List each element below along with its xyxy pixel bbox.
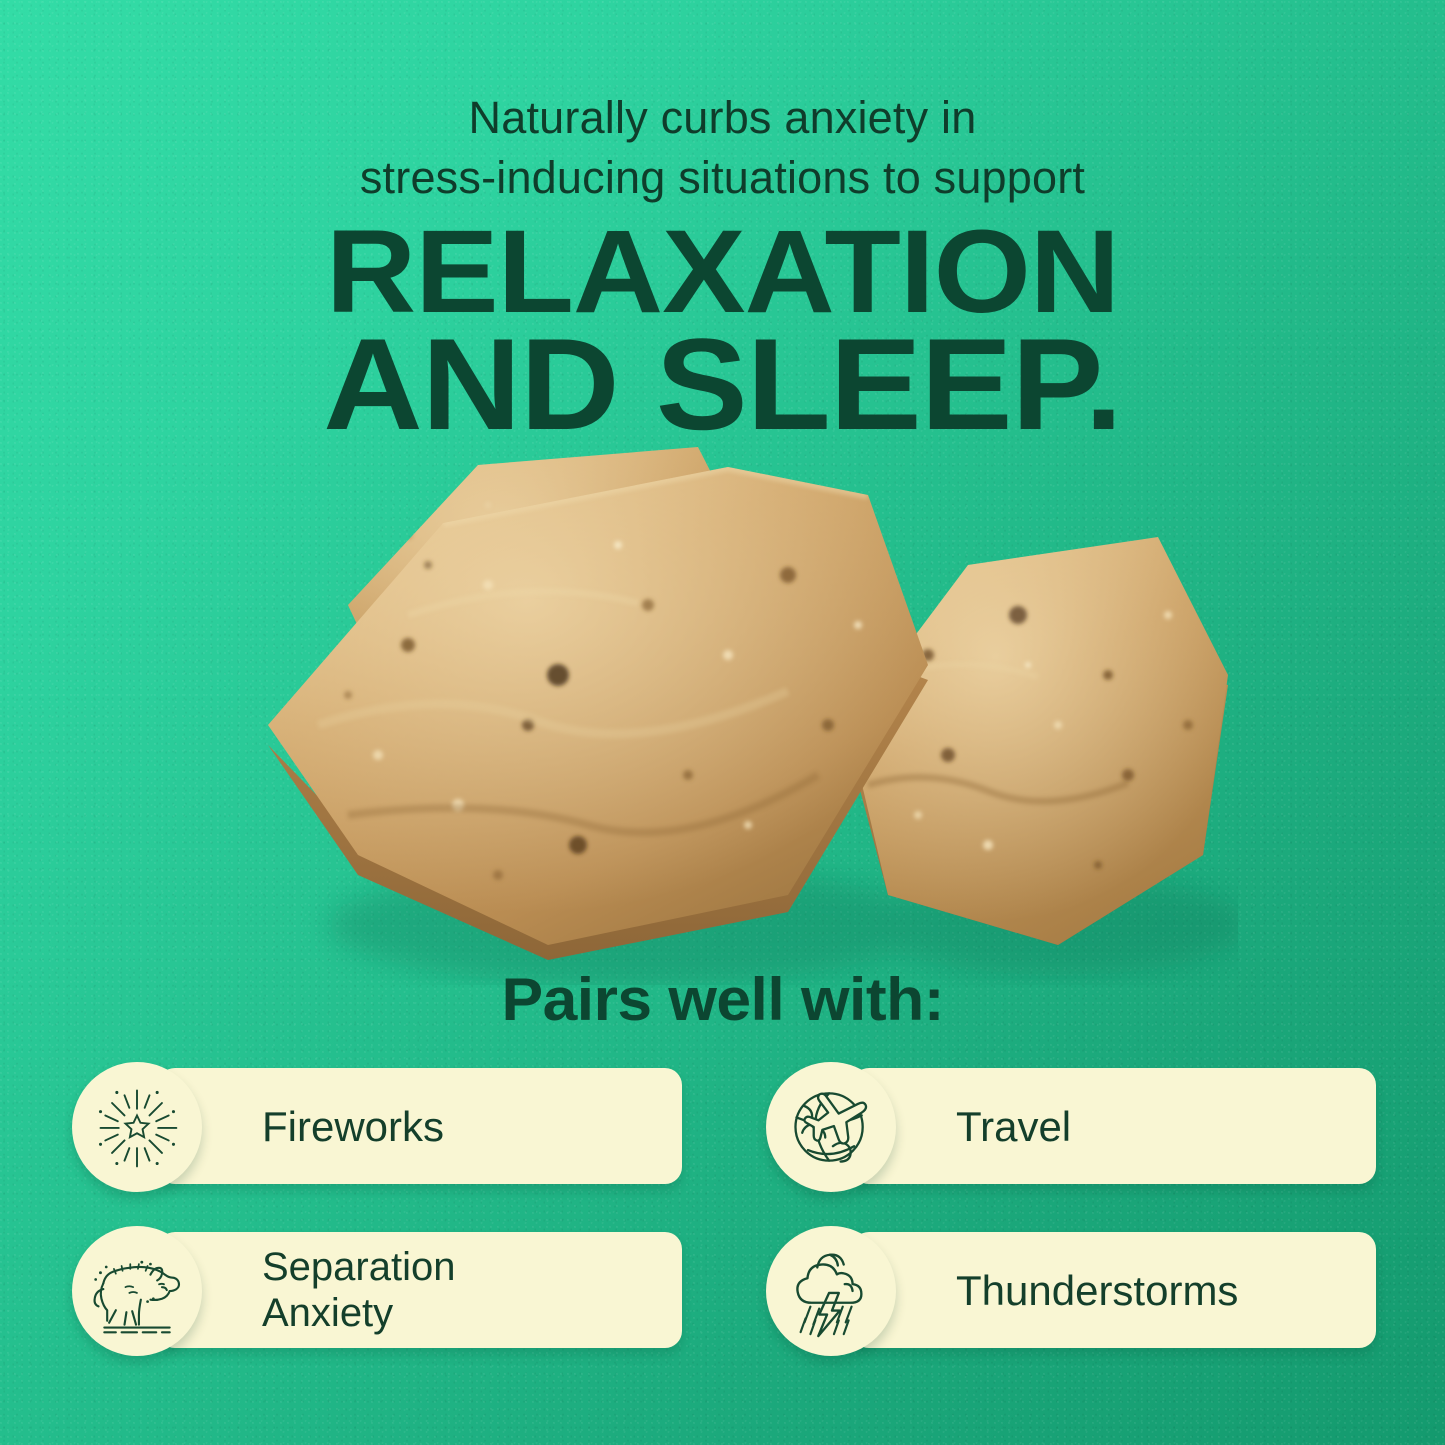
pairs-title-text: Pairs well with: [501,965,943,1034]
card-label-line-2: Anxiety [262,1291,393,1335]
globe-plane-icon [783,1079,879,1175]
pairs-grid: Fireworks Travel [72,1062,1377,1354]
card-label: Travel [956,1062,1071,1190]
card-label-line-1: Separation [262,1245,455,1289]
fireworks-icon [89,1079,185,1175]
pairs-card-thunderstorms[interactable]: Thunderstorms [766,1226,1376,1354]
pairs-card-fireworks[interactable]: Fireworks [72,1062,682,1190]
card-label: Thunderstorms [956,1226,1238,1354]
pairs-row-2: Separation Anxiety [72,1226,1377,1354]
subheadline-line-1: Naturally curbs anxiety in [0,88,1445,148]
anxious-dog-icon [87,1241,187,1341]
headline: RELAXATION AND SLEEP. [0,216,1445,440]
icon-bubble [766,1062,896,1192]
pairs-card-travel[interactable]: Travel [766,1062,1376,1190]
storm-cloud-icon [782,1242,880,1340]
pairs-row-1: Fireworks Travel [72,1062,1377,1190]
icon-bubble [72,1226,202,1356]
product-photo [228,425,1238,985]
card-pill [852,1068,1376,1184]
product-marketing-poster: Naturally curbs anxiety in stress-induci… [0,0,1445,1445]
icon-bubble [766,1226,896,1356]
subheadline-line-2: stress-inducing situations to support [0,148,1445,208]
pairs-card-separation-anxiety[interactable]: Separation Anxiety [72,1226,682,1354]
treats-illustration [228,425,1238,985]
icon-bubble [72,1062,202,1192]
subheadline: Naturally curbs anxiety in stress-induci… [0,88,1445,208]
pairs-well-with-title: Pairs well with: [0,965,1445,1034]
headline-line-2: AND SLEEP. [0,328,1445,440]
card-label: Fireworks [262,1062,444,1190]
card-label: Separation Anxiety [262,1226,455,1354]
